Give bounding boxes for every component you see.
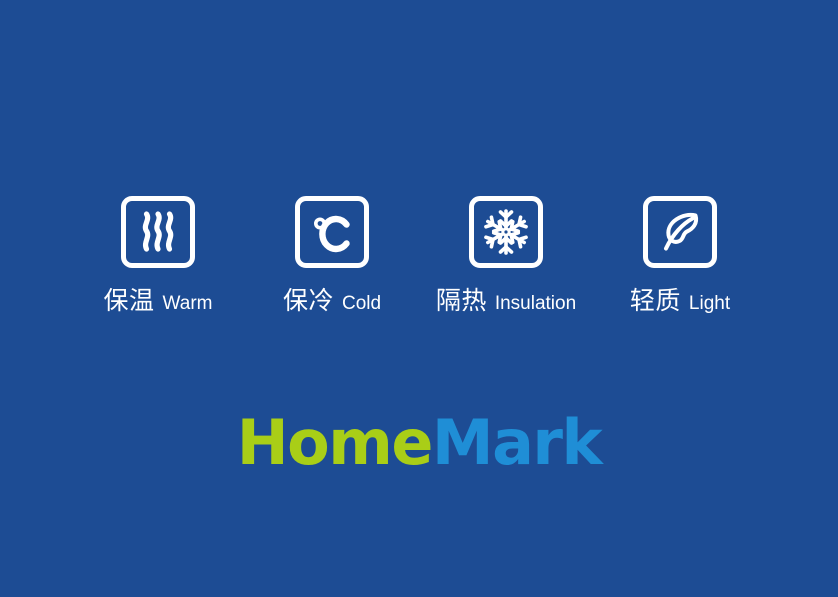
feature-label-cn: 轻质	[630, 288, 681, 313]
icon-box-insulation	[469, 196, 543, 268]
feature-item-warm[interactable]: 保温 Warm	[71, 196, 245, 313]
feature-label-en: Insulation	[495, 294, 576, 313]
feature-label-insulation: 隔热 Insulation	[436, 288, 576, 313]
feature-label-cn: 保冷	[283, 288, 334, 313]
feature-item-light[interactable]: 轻质 Light	[593, 196, 767, 313]
feature-row: 保温 Warm 保冷 Cold	[0, 196, 838, 313]
feature-label-cold: 保冷 Cold	[283, 288, 381, 313]
icon-box-cold	[295, 196, 369, 268]
feather-leaf-icon	[657, 209, 703, 255]
feature-label-cn: 隔热	[436, 288, 487, 313]
feature-label-en: Cold	[342, 294, 381, 313]
brand-logo-part-home: Home	[237, 406, 432, 479]
icon-box-warm	[121, 196, 195, 268]
brand-logo-part-mark: Mark	[432, 406, 601, 479]
feature-item-insulation[interactable]: 隔热 Insulation	[419, 196, 593, 313]
icon-box-light	[643, 196, 717, 268]
feature-item-cold[interactable]: 保冷 Cold	[245, 196, 419, 313]
celsius-icon	[310, 210, 354, 254]
snowflake-icon	[482, 208, 530, 256]
feature-label-warm: 保温 Warm	[104, 288, 213, 313]
feature-label-cn: 保温	[104, 288, 155, 313]
feature-label-light: 轻质 Light	[630, 288, 730, 313]
feature-label-en: Light	[689, 294, 730, 313]
brand-logo: HomeMark	[0, 412, 838, 474]
feature-label-en: Warm	[163, 294, 213, 313]
heat-waves-icon	[138, 210, 178, 254]
poster-canvas: 保温 Warm 保冷 Cold	[0, 0, 838, 597]
